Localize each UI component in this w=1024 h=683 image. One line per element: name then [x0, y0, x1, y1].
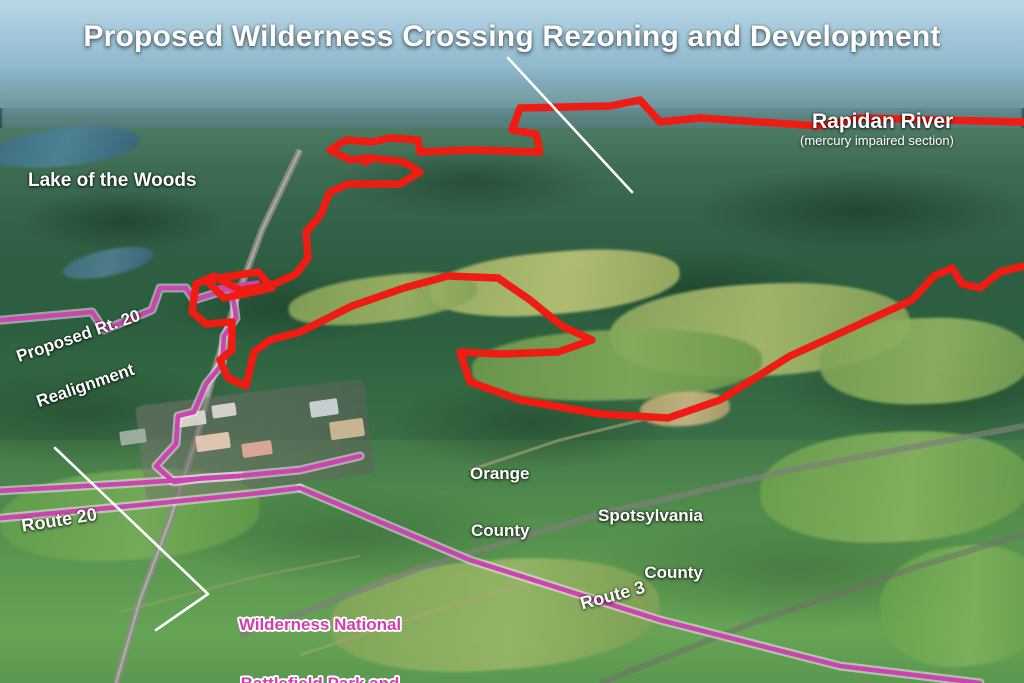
- label-spotsylvania-county-line2: County: [598, 563, 703, 582]
- label-rapidan-river: Rapidan River: [812, 110, 953, 134]
- label-orange-county-line2: County: [470, 521, 530, 540]
- label-wilderness-battlefield-park: Wilderness National Battlefield Park and…: [180, 576, 460, 683]
- callout-leader-lines: [0, 0, 1024, 683]
- title-leader-line: [508, 58, 632, 192]
- label-orange-county-line1: Orange: [470, 464, 530, 483]
- label-orange-county: Orange County: [470, 426, 530, 578]
- label-spotsylvania-county-line1: Spotsylvania: [598, 506, 703, 525]
- map-graphic: Proposed Wilderness Crossing Rezoning an…: [0, 0, 1024, 683]
- label-battlefield-line2: Battlefield Park and: [180, 674, 460, 683]
- label-battlefield-line1: Wilderness National: [180, 615, 460, 634]
- page-title: Proposed Wilderness Crossing Rezoning an…: [0, 20, 1024, 54]
- label-lake-of-the-woods: Lake of the Woods: [28, 170, 197, 191]
- label-rapidan-river-note: (mercury impaired section): [800, 134, 954, 149]
